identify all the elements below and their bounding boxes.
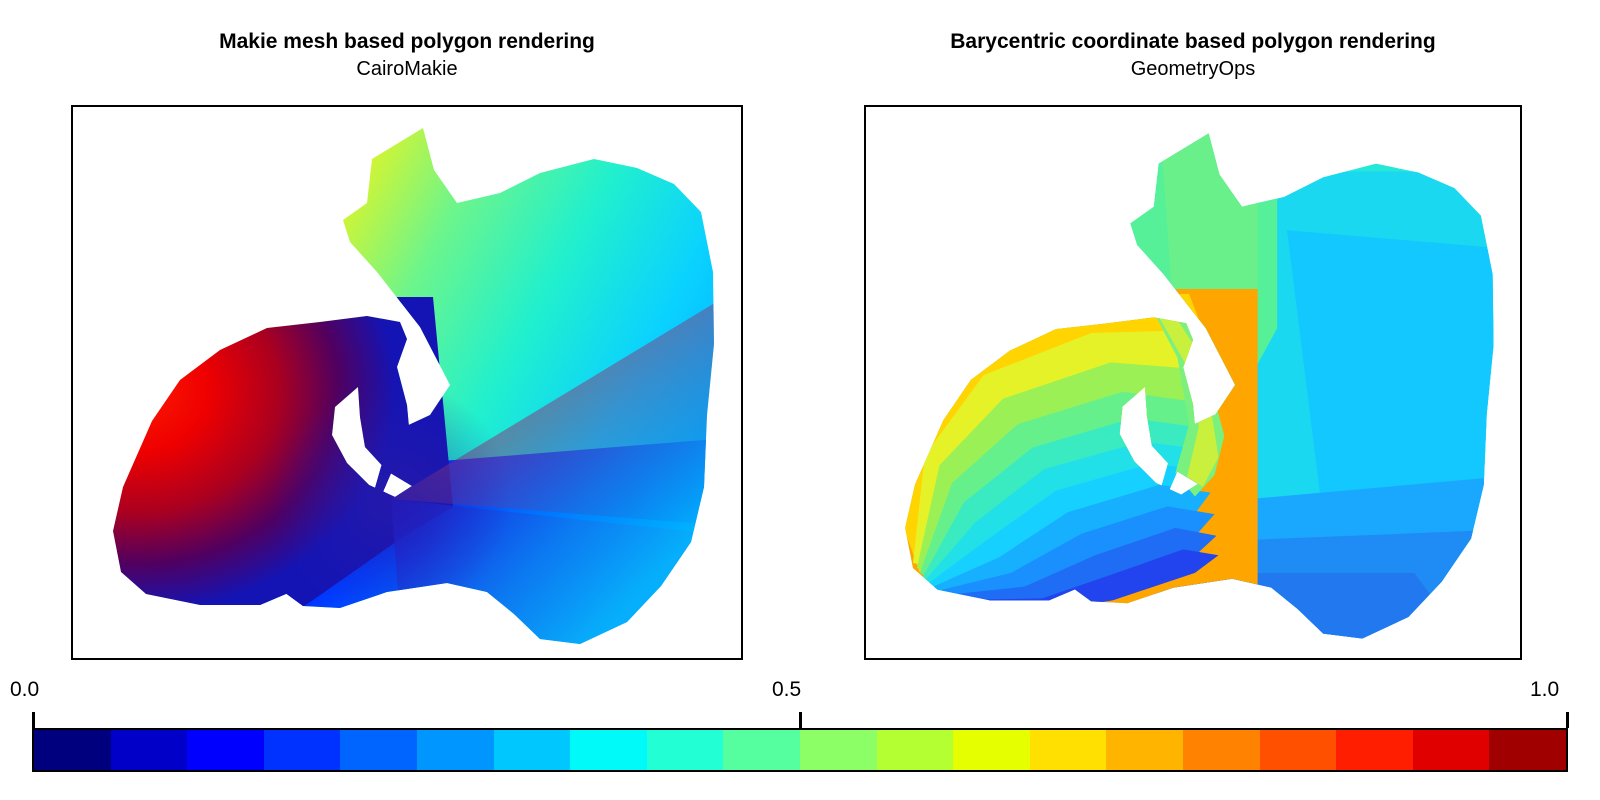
mesh-fill-group bbox=[93, 107, 741, 658]
colorbar-band bbox=[340, 730, 417, 770]
colorbar-band bbox=[1489, 730, 1566, 770]
axis-frame-right bbox=[864, 105, 1522, 660]
colorbar-band bbox=[1106, 730, 1183, 770]
panel-subtitle-left: CairoMakie bbox=[71, 56, 743, 83]
colorbar-band bbox=[417, 730, 494, 770]
colorbar-band bbox=[953, 730, 1030, 770]
panel-titles-left: Makie mesh based polygon rendering Cairo… bbox=[71, 28, 743, 83]
colorbar-tick-label-max: 1.0 bbox=[1530, 678, 1559, 702]
colorbar-band bbox=[34, 730, 111, 770]
colorbar-band bbox=[647, 730, 724, 770]
panel-title-left: Makie mesh based polygon rendering bbox=[71, 28, 743, 56]
colorbar-gradient-bar[interactable] bbox=[32, 728, 1568, 772]
colorbar-band bbox=[570, 730, 647, 770]
colorbar-band bbox=[1030, 730, 1107, 770]
colorbar-band bbox=[1413, 730, 1490, 770]
colorbar-tick-mid bbox=[799, 712, 802, 728]
colorbar-band bbox=[723, 730, 800, 770]
colorbar-band bbox=[264, 730, 341, 770]
polygon-plot-mesh bbox=[73, 107, 741, 658]
colorbar-band bbox=[1183, 730, 1260, 770]
colorbar-band bbox=[1260, 730, 1337, 770]
colorbar-band bbox=[877, 730, 954, 770]
polygon-plot-barycentric bbox=[866, 107, 1520, 658]
colorbar-tick-min bbox=[32, 712, 35, 728]
barycentric-band-group bbox=[866, 113, 1520, 658]
colorbar-band bbox=[1336, 730, 1413, 770]
colorbar-band bbox=[111, 730, 188, 770]
mesh-fan-pivot bbox=[271, 379, 511, 619]
panel-title-right: Barycentric coordinate based polygon ren… bbox=[864, 28, 1522, 56]
axis-frame-left bbox=[71, 105, 743, 660]
colorbar-tick-max bbox=[1566, 712, 1569, 728]
panel-subtitle-right: GeometryOps bbox=[864, 56, 1522, 83]
figure-canvas: Makie mesh based polygon rendering Cairo… bbox=[0, 0, 1600, 800]
colorbar[interactable]: 0.0 0.5 1.0 bbox=[0, 678, 1600, 778]
colorbar-tick-label-mid: 0.5 bbox=[772, 678, 801, 702]
panel-titles-right: Barycentric coordinate based polygon ren… bbox=[864, 28, 1522, 83]
colorbar-band bbox=[800, 730, 877, 770]
colorbar-tick-label-min: 0.0 bbox=[10, 678, 39, 702]
colorbar-band bbox=[187, 730, 264, 770]
colorbar-band bbox=[494, 730, 571, 770]
